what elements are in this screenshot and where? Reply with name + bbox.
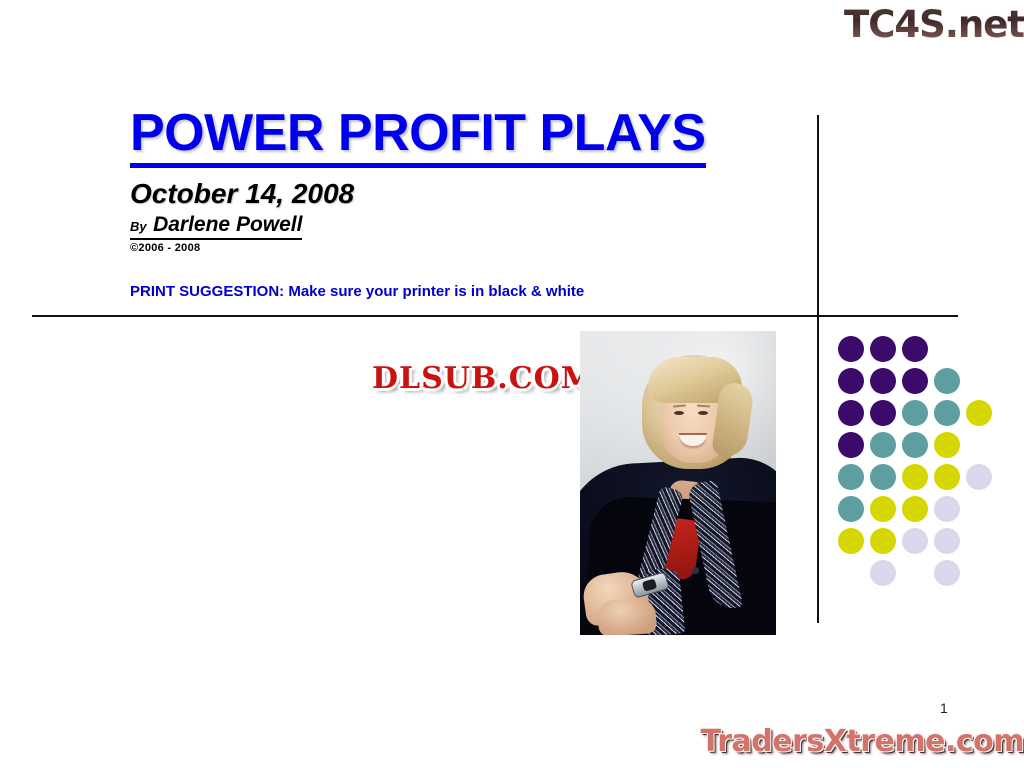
dot-teal xyxy=(902,400,928,426)
dot-lavender xyxy=(966,464,992,490)
dot-purple xyxy=(902,368,928,394)
dot-purple xyxy=(870,336,896,362)
dot-teal xyxy=(870,464,896,490)
dot-yellow xyxy=(966,400,992,426)
horizontal-divider xyxy=(32,315,958,317)
copyright-notice: ©2006 - 2008 xyxy=(130,242,790,254)
dot-lavender xyxy=(870,560,896,586)
brand-logo-tc4s: TC4S.net xyxy=(828,2,1024,48)
byline: By Darlene Powell xyxy=(130,213,302,240)
dot-teal xyxy=(934,368,960,394)
page-title: POWER PROFIT PLAYS xyxy=(130,104,706,168)
dot-lavender xyxy=(902,528,928,554)
dot-yellow xyxy=(934,464,960,490)
dot-purple xyxy=(902,336,928,362)
print-suggestion-text: PRINT SUGGESTION: Make sure your printer… xyxy=(130,283,584,300)
dot-yellow xyxy=(902,464,928,490)
dot-purple xyxy=(838,400,864,426)
dot-purple xyxy=(838,336,864,362)
dot-yellow xyxy=(838,528,864,554)
title-block: POWER PROFIT PLAYS October 14, 2008 By D… xyxy=(130,104,790,254)
dot-teal xyxy=(902,432,928,458)
photo-hand-lower xyxy=(597,597,657,635)
dot-lavender xyxy=(934,560,960,586)
dot-teal xyxy=(838,496,864,522)
slide-canvas: TC4S.net POWER PROFIT PLAYS October 14, … xyxy=(0,0,1024,768)
dot-purple xyxy=(838,432,864,458)
dot-yellow xyxy=(934,432,960,458)
dot-yellow xyxy=(870,496,896,522)
byline-prefix: By xyxy=(130,219,147,234)
page-number: 1 xyxy=(940,700,948,716)
dot-lavender xyxy=(934,528,960,554)
presentation-date: October 14, 2008 xyxy=(130,178,790,210)
dot-purple xyxy=(870,368,896,394)
watermark-dlsub: DLSUB.COM xyxy=(372,361,595,396)
dot-yellow xyxy=(902,496,928,522)
dot-purple xyxy=(870,400,896,426)
decorative-dot-grid xyxy=(838,336,998,586)
dot-purple xyxy=(838,368,864,394)
presenter-photo xyxy=(580,331,776,635)
dot-lavender xyxy=(934,496,960,522)
photo-eye-right xyxy=(698,411,708,415)
brand-logo-tradersxtreme: TradersXtreme.com xyxy=(678,722,1024,762)
byline-author: Darlene Powell xyxy=(153,213,302,236)
photo-eye-left xyxy=(674,411,684,415)
dot-teal xyxy=(934,400,960,426)
dot-teal xyxy=(870,432,896,458)
dot-teal xyxy=(838,464,864,490)
photo-jacket-button xyxy=(692,567,699,574)
vertical-divider xyxy=(817,115,819,623)
dot-yellow xyxy=(870,528,896,554)
